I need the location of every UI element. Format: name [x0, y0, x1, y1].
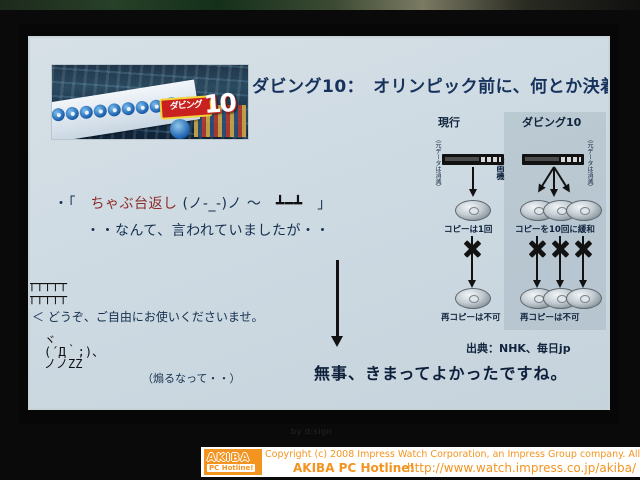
arrow-left-copy: [472, 167, 474, 189]
ascii-kaomoji: ヾ (´Д｀;)、 ノノZZ: [44, 334, 104, 370]
monitor-brand-label: by d:sign: [291, 427, 332, 436]
diagram-left-source-note: （元データは消滅）: [434, 136, 441, 190]
bullet-line-2: ・・なんて、言われていましたが・・: [86, 220, 330, 240]
bullet1-table-glyph: ┻━┻: [261, 196, 317, 212]
photo-single-disc: [170, 119, 190, 139]
caption-left-copy: コピーは1回: [444, 223, 492, 235]
diagram-right-source-note: （元データは消滅）: [586, 136, 593, 190]
x-mark-right-2: [551, 240, 569, 258]
watermark-copyright: Copyright (c) 2008 Impress Watch Corpora…: [265, 449, 640, 460]
copy-disc-right-3: [566, 200, 602, 221]
slide-title: ダビング10： オリンピック前に、何とか決着・・・: [252, 72, 608, 97]
x-mark-right-3: [574, 240, 592, 258]
x-mark-left: [463, 240, 481, 258]
diagram-right-header: ダビング10: [522, 114, 581, 130]
caption-right-copy: コピーを10回に緩和: [515, 223, 595, 235]
watermark-bar: AKIBA PC Hotline! Copyright (c) 2008 Imp…: [201, 447, 640, 477]
copy-disc-left: [455, 200, 491, 221]
bullet1-red-text: ちゃぶ台返し: [91, 196, 178, 212]
ascii-tables-art: ┬┬┬┬┬ ┬┬┬┬┬: [30, 278, 67, 304]
caption-right-recopy: 再コピーは不可: [520, 311, 580, 323]
monitor-photo: by d:sign ダビング 10: [0, 0, 640, 480]
bullet1-prefix: ・「: [54, 196, 91, 212]
photo-dubbing10-badge: ダビング 10: [160, 91, 242, 117]
diagram-left-header: 現行: [438, 114, 460, 130]
recorder-device-right: [522, 154, 584, 165]
down-arrow-icon: [336, 260, 339, 336]
bullet-line-1: ・「 ちゃぶ台返し (ノ-_-)ノ 〜 ┻━┻ 」: [54, 193, 332, 213]
source-attribution: 出典：NHK、毎日jp: [466, 340, 571, 356]
watermark-url[interactable]: http://www.watch.impress.co.jp/akiba/: [407, 461, 636, 475]
akiba-logo-bottom: PC Hotline!: [207, 464, 255, 472]
store-shelf-photo: ダビング 10: [51, 64, 249, 140]
ascii-tables-row-2: ┬┬┬┬┬: [30, 290, 67, 305]
recopy-disc-left: [455, 288, 491, 309]
dubbing10-diagram: 現行 ダビング10 （元データは消滅） （元データは消滅） 録画機 コピーは1回…: [414, 112, 606, 336]
recorder-device-left: [442, 154, 504, 165]
background-room-strip: [0, 0, 640, 10]
x-mark-right-1: [528, 240, 546, 258]
akiba-logo: AKIBA PC Hotline!: [204, 449, 262, 475]
caption-left-recopy: 再コピーは不可: [441, 311, 501, 323]
akiba-logo-top: AKIBA: [207, 451, 250, 464]
kaomoji-zzz: ノノZZ: [44, 357, 82, 371]
recopy-disc-right-3: [566, 288, 602, 309]
ascii-aoru-note: （煽るなって・・）: [142, 370, 240, 386]
presentation-slide: ダビング 10 ダビング10： オリンピック前に、何とか決着・・・ ・「 ちゃぶ…: [30, 38, 608, 408]
watermark-site-name: AKIBA PC Hotline!: [293, 461, 415, 475]
ascii-dozo-text: ＜ どうぞ、ご自由にお使いくださいませ。: [32, 308, 263, 325]
screen-frame: ダビング 10 ダビング10： オリンピック前に、何とか決着・・・ ・「 ちゃぶ…: [28, 36, 610, 410]
closing-sentence: 無事、きまってよかったですね。: [314, 360, 568, 384]
bullet1-kaomoji: (ノ-_-)ノ 〜: [178, 196, 262, 212]
bullet1-suffix: 」: [317, 196, 332, 212]
